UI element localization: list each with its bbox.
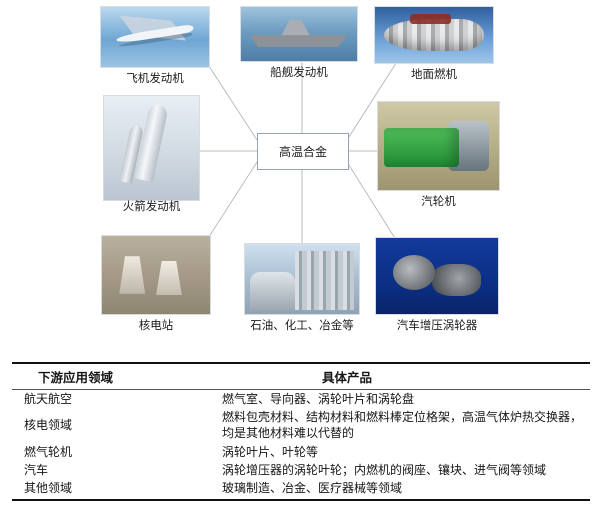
center-node-superalloy: 高温合金 [257, 133, 349, 170]
node-ground-gas-turbine: 地面燃机 [374, 6, 494, 64]
node-aircraft-engine: 飞机发动机 [100, 6, 210, 68]
rocket-engine-image [103, 95, 200, 201]
table-cell-products: 涡轮叶片、叶轮等 [214, 443, 590, 461]
table-cell-field: 航天航空 [12, 390, 214, 409]
table-header-field: 下游应用领域 [12, 363, 214, 390]
table-cell-products: 玻璃制造、冶金、医疗器械等领域 [214, 479, 590, 500]
ship-engine-image [240, 6, 358, 62]
node-label-petro-chem-metal: 石油、化工、冶金等 [250, 317, 354, 333]
nuclear-plant-image [101, 235, 211, 315]
node-ship-engine: 船舰发动机 [240, 6, 358, 62]
node-label-steam-turbine: 汽轮机 [421, 193, 456, 209]
node-nuclear-plant: 核电站 [101, 235, 211, 315]
node-rocket-engine: 火箭发动机 [103, 95, 200, 201]
node-auto-turbocharger: 汽车增压涡轮器 [375, 237, 499, 315]
node-label-ground-gas-turbine: 地面燃机 [411, 66, 457, 82]
table-cell-products: 燃气室、导向器、涡轮叶片和涡轮盘 [214, 390, 590, 409]
node-petro-chem-metal: 石油、化工、冶金等 [244, 243, 360, 315]
node-label-auto-turbocharger: 汽车增压涡轮器 [397, 317, 478, 333]
superalloy-application-diagram: 飞机发动机 船舰发动机 地面燃机 火箭发动机 汽轮机 核电站 [0, 0, 604, 352]
table-row: 核电领域燃料包壳材料、结构材料和燃料棒定位格架，高温气体炉热交换器，均是其他材料… [12, 408, 590, 442]
table-row: 其他领域玻璃制造、冶金、医疗器械等领域 [12, 479, 590, 500]
table-row: 燃气轮机涡轮叶片、叶轮等 [12, 443, 590, 461]
table-header-row: 下游应用领域 具体产品 [12, 363, 590, 390]
node-label-nuclear-plant: 核电站 [139, 317, 174, 333]
application-table: 下游应用领域 具体产品 航天航空燃气室、导向器、涡轮叶片和涡轮盘核电领域燃料包壳… [12, 362, 590, 501]
node-label-ship-engine: 船舰发动机 [270, 64, 328, 80]
node-steam-turbine: 汽轮机 [377, 101, 500, 191]
table-cell-field: 汽车 [12, 461, 214, 479]
table-body: 航天航空燃气室、导向器、涡轮叶片和涡轮盘核电领域燃料包壳材料、结构材料和燃料棒定… [12, 390, 590, 501]
table-cell-products: 涡轮增压器的涡轮叶轮；内燃机的阀座、镶块、进气阀等领域 [214, 461, 590, 479]
table-row: 航天航空燃气室、导向器、涡轮叶片和涡轮盘 [12, 390, 590, 409]
auto-turbocharger-image [375, 237, 499, 315]
node-label-aircraft-engine: 飞机发动机 [126, 70, 184, 86]
petro-chem-metal-image [244, 243, 360, 315]
table-row: 汽车涡轮增压器的涡轮叶轮；内燃机的阀座、镶块、进气阀等领域 [12, 461, 590, 479]
steam-turbine-image [377, 101, 500, 191]
table-cell-field: 燃气轮机 [12, 443, 214, 461]
node-label-rocket-engine: 火箭发动机 [123, 198, 181, 214]
table-cell-products: 燃料包壳材料、结构材料和燃料棒定位格架，高温气体炉热交换器，均是其他材料难以代替… [214, 408, 590, 442]
center-node-label: 高温合金 [279, 143, 327, 160]
table-cell-field: 核电领域 [12, 408, 214, 442]
table-header-products: 具体产品 [214, 363, 590, 390]
table-cell-field: 其他领域 [12, 479, 214, 500]
aircraft-engine-image [100, 6, 210, 68]
ground-gas-turbine-image [374, 6, 494, 64]
